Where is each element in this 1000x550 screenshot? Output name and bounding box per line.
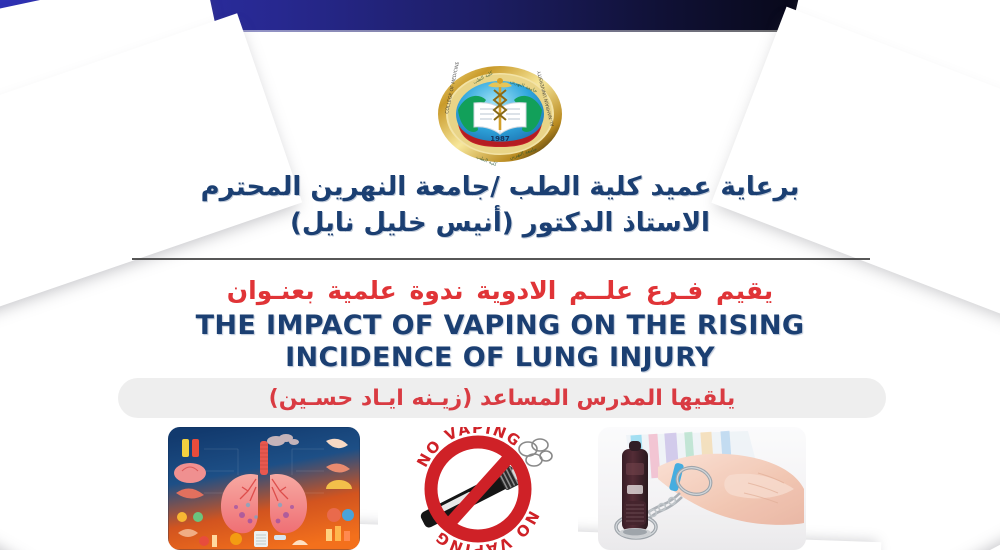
university-logo: 1987 COLLEGE OF MEDICINE AL-NAHRAIN UNIV… (424, 62, 576, 166)
image-row: NO VAPING NO VAPING (0, 427, 1000, 550)
english-title-line-1: THE IMPACT OF VAPING ON THE RISING (0, 310, 1000, 342)
speaker-banner: يلقيها المدرس المساعد (زيـنه ايـاد حسـين… (118, 378, 886, 418)
university-emblem-icon: 1987 COLLEGE OF MEDICINE AL-NAHRAIN UNIV… (424, 62, 576, 166)
no-vaping-sign: NO VAPING NO VAPING (378, 427, 578, 550)
patronage-line-1: برعاية عميد كلية الطب /جامعة النهرين الم… (0, 170, 1000, 204)
english-title-line-2: INCIDENCE OF LUNG INJURY (0, 342, 1000, 374)
patronage-line-2: الاستاذ الدكتور (أنيس خليل نايل) (0, 206, 1000, 240)
speaker-name-text: يلقيها المدرس المساعد (زيـنه ايـاد حسـين… (269, 386, 736, 411)
announcement-text: يقيم فـرع علــم الادوية ندوة علمية بعنـو… (0, 275, 1000, 307)
lung-health-infographic (168, 427, 360, 550)
no-vaping-icon: NO VAPING NO VAPING (378, 427, 578, 550)
svg-text:1987: 1987 (490, 135, 510, 143)
handcuffs-vape-photo-icon (598, 427, 806, 550)
lung-infographic-icon (168, 427, 360, 550)
vaping-addiction-handcuffs-photo (598, 427, 806, 550)
section-divider (132, 258, 870, 260)
poster-canvas: 1987 COLLEGE OF MEDICINE AL-NAHRAIN UNIV… (0, 0, 1000, 550)
